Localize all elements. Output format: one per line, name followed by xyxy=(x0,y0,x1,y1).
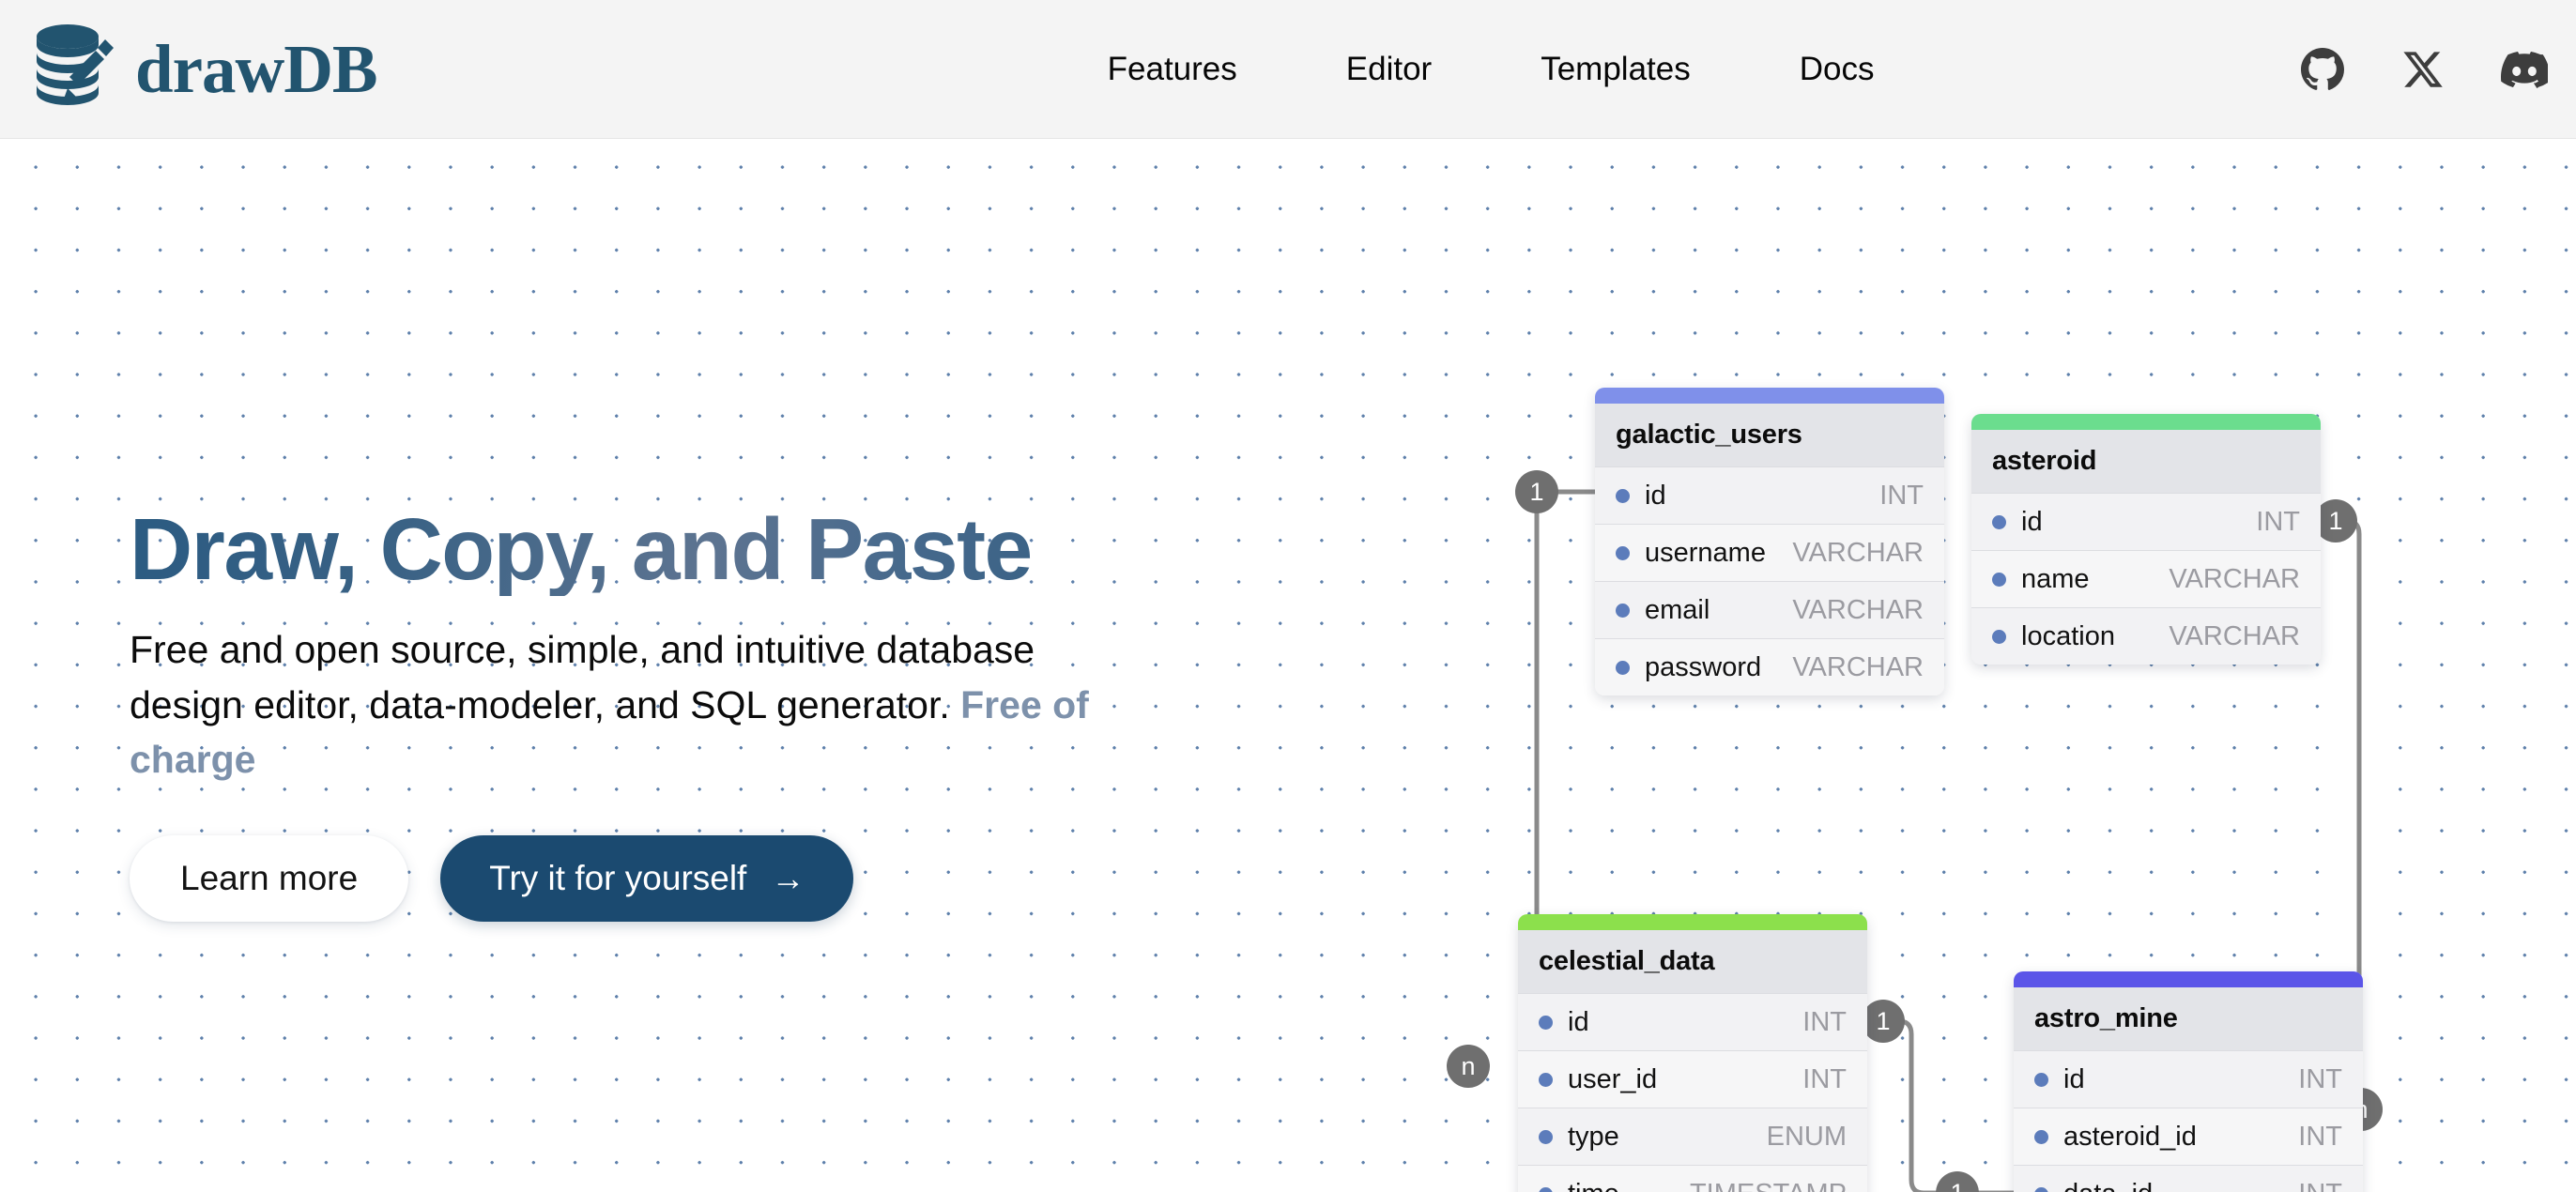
er-table-asteroid[interactable]: asteroid id INT name VARCHAR location VA… xyxy=(1971,414,2321,665)
brand[interactable]: drawDB xyxy=(34,23,377,115)
database-pencil-logo-icon xyxy=(34,23,116,115)
field-name: name xyxy=(2021,564,2090,595)
table-title: celestial_data xyxy=(1518,930,1867,993)
table-accent-bar xyxy=(1518,914,1867,930)
table-title: asteroid xyxy=(1971,430,2321,493)
field-dot-icon xyxy=(1539,1187,1553,1192)
field-dot-icon xyxy=(2034,1130,2048,1144)
field-name: time xyxy=(1568,1179,1619,1192)
er-table-celestial-data[interactable]: celestial_data id INT user_id INT type E… xyxy=(1518,914,1867,1192)
field-type: INT xyxy=(2256,507,2300,538)
table-row[interactable]: id INT xyxy=(1595,466,1944,524)
site-header: drawDB Features Editor Templates Docs xyxy=(0,0,2576,139)
field-dot-icon xyxy=(1616,604,1630,618)
cardinality-badge: 1 xyxy=(1515,470,1558,513)
table-row[interactable]: id INT xyxy=(2014,1050,2363,1108)
field-dot-icon xyxy=(1992,573,2006,587)
table-row[interactable]: email VARCHAR xyxy=(1595,581,1944,638)
field-type: VARCHAR xyxy=(1792,538,1924,569)
table-row[interactable]: id INT xyxy=(1971,493,2321,550)
field-name: type xyxy=(1568,1122,1619,1153)
field-name: password xyxy=(1645,652,1761,683)
hero-subtitle-lead: Free and open source, simple, and intuit… xyxy=(130,628,1035,726)
table-accent-bar xyxy=(1595,388,1944,404)
try-it-button-label: Try it for yourself xyxy=(489,859,746,898)
arrow-right-icon: → xyxy=(771,862,805,895)
field-dot-icon xyxy=(1616,546,1630,560)
field-dot-icon xyxy=(1539,1130,1553,1144)
table-row[interactable]: name VARCHAR xyxy=(1971,550,2321,607)
field-name: id xyxy=(2063,1064,2085,1095)
table-title: galactic_users xyxy=(1595,404,1944,466)
field-dot-icon xyxy=(2034,1187,2048,1192)
table-accent-bar xyxy=(1971,414,2321,430)
field-dot-icon xyxy=(2034,1073,2048,1087)
field-name: id xyxy=(1568,1007,1589,1038)
field-type: VARCHAR xyxy=(1792,652,1924,683)
hero-canvas: Draw, Copy, and Paste Free and open sour… xyxy=(0,140,2576,1192)
field-name: username xyxy=(1645,538,1766,569)
field-type: INT xyxy=(1802,1064,1847,1095)
field-type: TIMESTAMP xyxy=(1690,1179,1847,1192)
x-twitter-icon[interactable] xyxy=(2401,48,2445,91)
table-row[interactable]: data_id INT xyxy=(2014,1165,2363,1192)
social-links xyxy=(2300,46,2548,93)
field-type: INT xyxy=(2298,1064,2342,1095)
hero-subtitle: Free and open source, simple, and intuit… xyxy=(130,622,1125,787)
field-dot-icon xyxy=(1539,1016,1553,1030)
field-name: id xyxy=(2021,507,2043,538)
field-name: user_id xyxy=(1568,1064,1657,1095)
field-name: id xyxy=(1645,481,1666,512)
table-row[interactable]: id INT xyxy=(1518,993,1867,1050)
relation-celestial-data-astro-mine xyxy=(1867,1021,2014,1192)
cardinality-badge: 1 xyxy=(1862,1000,1905,1043)
brand-name: drawDB xyxy=(135,35,377,103)
field-type: INT xyxy=(1879,481,1924,512)
page-title: Draw, Copy, and Paste xyxy=(130,502,1181,596)
learn-more-button[interactable]: Learn more xyxy=(130,835,408,922)
table-row[interactable]: time TIMESTAMP xyxy=(1518,1165,1867,1192)
field-type: ENUM xyxy=(1767,1122,1847,1153)
github-icon[interactable] xyxy=(2300,47,2345,92)
hero-section: Draw, Copy, and Paste Free and open sour… xyxy=(130,502,1181,922)
try-it-button[interactable]: Try it for yourself → xyxy=(440,835,853,922)
field-dot-icon xyxy=(1616,661,1630,675)
field-type: INT xyxy=(2298,1179,2342,1192)
er-table-astro-mine[interactable]: astro_mine id INT asteroid_id INT data_i… xyxy=(2014,971,2363,1192)
field-type: INT xyxy=(1802,1007,1847,1038)
field-name: location xyxy=(2021,621,2115,652)
field-type: INT xyxy=(2298,1122,2342,1153)
table-row[interactable]: type ENUM xyxy=(1518,1108,1867,1165)
table-row[interactable]: asteroid_id INT xyxy=(2014,1108,2363,1165)
field-name: email xyxy=(1645,595,1710,626)
nav-link-editor[interactable]: Editor xyxy=(1292,51,1486,88)
main-nav: Features Editor Templates Docs xyxy=(1053,51,1929,88)
table-row[interactable]: user_id INT xyxy=(1518,1050,1867,1108)
cardinality-badge: n xyxy=(1447,1045,1490,1088)
er-table-galactic-users[interactable]: galactic_users id INT username VARCHAR e… xyxy=(1595,388,1944,695)
field-dot-icon xyxy=(1539,1073,1553,1087)
nav-link-docs[interactable]: Docs xyxy=(1745,51,1929,88)
table-row[interactable]: username VARCHAR xyxy=(1595,524,1944,581)
field-name: data_id xyxy=(2063,1179,2153,1192)
field-type: VARCHAR xyxy=(2169,564,2300,595)
hero-actions: Learn more Try it for yourself → xyxy=(130,835,1181,922)
nav-link-features[interactable]: Features xyxy=(1053,51,1292,88)
field-type: VARCHAR xyxy=(1792,595,1924,626)
field-dot-icon xyxy=(1616,489,1630,503)
discord-icon[interactable] xyxy=(2501,46,2548,93)
field-name: asteroid_id xyxy=(2063,1122,2197,1153)
field-dot-icon xyxy=(1992,515,2006,529)
table-accent-bar xyxy=(2014,971,2363,987)
field-type: VARCHAR xyxy=(2169,621,2300,652)
table-title: astro_mine xyxy=(2014,987,2363,1050)
table-row[interactable]: location VARCHAR xyxy=(1971,607,2321,665)
field-dot-icon xyxy=(1992,630,2006,644)
table-row[interactable]: password VARCHAR xyxy=(1595,638,1944,695)
nav-link-templates[interactable]: Templates xyxy=(1486,51,1745,88)
